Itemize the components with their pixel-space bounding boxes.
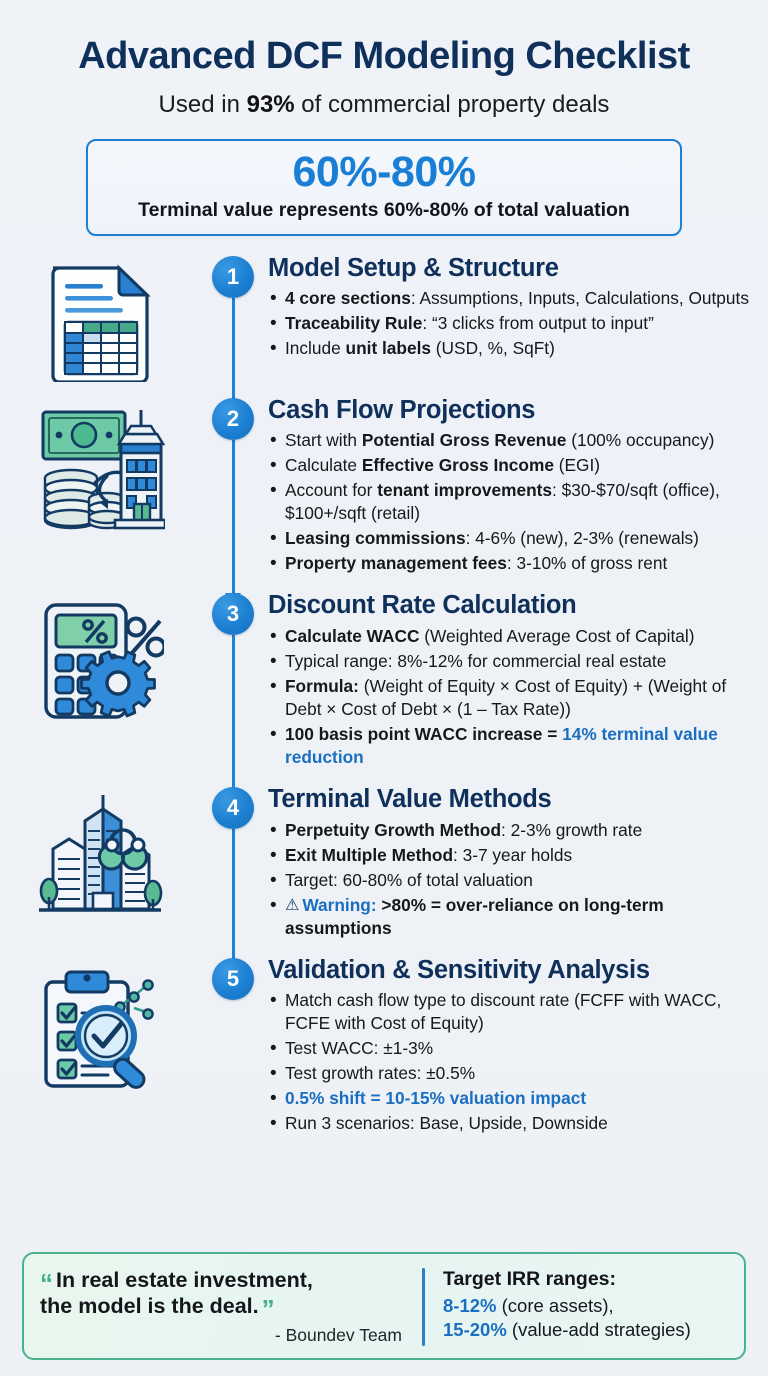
step-2-body: Cash Flow Projections Start with Potenti… bbox=[200, 396, 768, 578]
bullet-text: : 2-3% growth rate bbox=[501, 820, 642, 840]
list-item: Test growth rates: ±0.5% bbox=[268, 1062, 754, 1085]
irr-title: Target IRR ranges: bbox=[443, 1268, 728, 1291]
list-item: 0.5% shift = 10-15% valuation impact bbox=[268, 1087, 754, 1110]
list-item: Perpetuity Growth Method: 2-3% growth ra… bbox=[268, 819, 754, 842]
footer-quote-box: “In real estate investment,the model is … bbox=[22, 1252, 746, 1360]
list-item: Include unit labels (USD, %, SqFt) bbox=[268, 337, 754, 360]
bullet-bold: Calculate WACC bbox=[285, 626, 419, 646]
hero-stat-label: Terminal value represents 60%-80% of tot… bbox=[102, 199, 666, 222]
bullet-bold: Exit Multiple Method bbox=[285, 845, 453, 865]
irr-label-2: (value-add strategies) bbox=[507, 1319, 691, 1340]
step-5-number-badge: 5 bbox=[212, 958, 254, 1000]
step-2: 2 Cash Flow Projections Start with Poten… bbox=[0, 396, 768, 578]
list-item: Target: 60-80% of total valuation bbox=[268, 869, 754, 892]
step-4-icon-wrap bbox=[0, 785, 200, 921]
bullet-bold: Effective Gross Income bbox=[362, 455, 554, 475]
bullet-bold: 4 core sections bbox=[285, 288, 411, 308]
hero-stat-box: 60%-80% Terminal value represents 60%-80… bbox=[86, 139, 682, 236]
bullet-text: (Weighted Average Cost of Capital) bbox=[419, 626, 694, 646]
list-item: 100 basis point WACC increase = 14% term… bbox=[268, 723, 754, 769]
list-item: Typical range: 8%-12% for commercial rea… bbox=[268, 650, 754, 673]
irr-value-1: 8-12% bbox=[443, 1295, 496, 1316]
step-3-body: Discount Rate Calculation Calculate WACC… bbox=[200, 591, 768, 771]
step-1: 1 Model Setup & Structure 4 core section… bbox=[0, 254, 768, 382]
step-4: 4 Terminal Value Methods Perpetuity Grow… bbox=[0, 785, 768, 942]
bullet-text: Typical range: 8%-12% for commercial rea… bbox=[285, 651, 666, 671]
list-item: 4 core sections: Assumptions, Inputs, Ca… bbox=[268, 287, 754, 310]
bullet-text: : Assumptions, Inputs, Calculations, Out… bbox=[411, 288, 749, 308]
warning-list-item: ⚠Warning: >80% = over-reliance on long-t… bbox=[268, 894, 754, 940]
infographic-page: Advanced DCF Modeling Checklist Used in … bbox=[0, 0, 768, 1376]
step-1-icon-wrap bbox=[0, 254, 200, 382]
bullet-text: Test growth rates: ±0.5% bbox=[285, 1063, 475, 1083]
bullet-pre: Start with bbox=[285, 430, 362, 450]
quote-line-1: In real estate investment, bbox=[56, 1268, 313, 1292]
bullet-pre: Include bbox=[285, 338, 346, 358]
bullet-pre: Calculate bbox=[285, 455, 362, 475]
subtitle-stat: 93% bbox=[247, 91, 295, 118]
skyscraper-infinity-icon bbox=[35, 793, 165, 921]
bullet-bold: Perpetuity Growth Method bbox=[285, 820, 501, 840]
bullet-text: : 3-7 year holds bbox=[453, 845, 572, 865]
list-item: Leasing commissions: 4-6% (new), 2-3% (r… bbox=[268, 527, 754, 550]
quote-section: “In real estate investment,the model is … bbox=[40, 1268, 422, 1346]
step-5-body: Validation & Sensitivity Analysis Match … bbox=[200, 956, 768, 1138]
step-4-connector-arrow bbox=[232, 829, 235, 971]
bullet-bold: Potential Gross Revenue bbox=[362, 430, 567, 450]
bullet-bold: 100 basis point WACC increase = bbox=[285, 724, 562, 744]
bullet-text: (100% occupancy) bbox=[566, 430, 714, 450]
list-item: Account for tenant improvements: $30-$70… bbox=[268, 479, 754, 525]
list-item: Traceability Rule: “3 clicks from output… bbox=[268, 312, 754, 335]
step-3-icon-wrap bbox=[0, 591, 200, 723]
clipboard-magnifier-icon bbox=[34, 964, 166, 1094]
hero-stat-value: 60%-80% bbox=[102, 151, 666, 195]
step-2-icon-wrap bbox=[0, 396, 200, 530]
list-item: Calculate Effective Gross Income (EGI) bbox=[268, 454, 754, 477]
step-5-icon-wrap bbox=[0, 956, 200, 1094]
bullet-bold: unit labels bbox=[346, 338, 431, 358]
bullet-text: Match cash flow type to discount rate (F… bbox=[285, 990, 721, 1033]
step-4-bullets: Perpetuity Growth Method: 2-3% growth ra… bbox=[268, 819, 754, 940]
step-3-title: Discount Rate Calculation bbox=[268, 591, 754, 620]
step-2-title: Cash Flow Projections bbox=[268, 396, 754, 425]
spreadsheet-document-icon bbox=[41, 262, 159, 382]
header: Advanced DCF Modeling Checklist Used in … bbox=[0, 0, 768, 119]
step-4-number-badge: 4 bbox=[212, 787, 254, 829]
money-building-icon bbox=[35, 404, 165, 530]
step-2-connector-arrow bbox=[232, 440, 235, 604]
step-1-title: Model Setup & Structure bbox=[268, 254, 754, 283]
list-item: Match cash flow type to discount rate (F… bbox=[268, 989, 754, 1035]
irr-value-2: 15-20% bbox=[443, 1319, 507, 1340]
quote-close-icon: ” bbox=[262, 1294, 275, 1324]
steps-list: 1 Model Setup & Structure 4 core section… bbox=[0, 254, 768, 1137]
step-1-bullets: 4 core sections: Assumptions, Inputs, Ca… bbox=[268, 287, 754, 360]
bullet-text: : “3 clicks from output to input” bbox=[422, 313, 653, 333]
step-4-title: Terminal Value Methods bbox=[268, 785, 754, 814]
irr-line-1: 8-12% (core assets), bbox=[443, 1294, 728, 1318]
step-5-title: Validation & Sensitivity Analysis bbox=[268, 956, 754, 985]
page-title: Advanced DCF Modeling Checklist bbox=[24, 36, 744, 77]
subtitle-suffix: of commercial property deals bbox=[295, 91, 610, 118]
bullet-text: : 4-6% (new), 2-3% (renewals) bbox=[466, 528, 699, 548]
quote-open-icon: “ bbox=[40, 1268, 53, 1298]
bullet-text: Run 3 scenarios: Base, Upside, Downside bbox=[285, 1113, 608, 1133]
list-item: Test WACC: ±1-3% bbox=[268, 1037, 754, 1060]
bullet-bold: Traceability Rule bbox=[285, 313, 422, 333]
step-1-body: Model Setup & Structure 4 core sections:… bbox=[200, 254, 768, 363]
irr-label-1: (core assets), bbox=[496, 1295, 613, 1316]
step-3-bullets: Calculate WACC (Weighted Average Cost of… bbox=[268, 625, 754, 769]
bullet-text: (USD, %, SqFt) bbox=[431, 338, 555, 358]
page-subtitle: Used in 93% of commercial property deals bbox=[24, 91, 744, 119]
list-item: Start with Potential Gross Revenue (100%… bbox=[268, 429, 754, 452]
irr-section: Target IRR ranges: 8-12% (core assets), … bbox=[425, 1268, 728, 1346]
step-3: 3 Discount Rate Calculation Calculate WA… bbox=[0, 591, 768, 771]
bullet-bold: Leasing commissions bbox=[285, 528, 466, 548]
irr-line-2: 15-20% (value-add strategies) bbox=[443, 1318, 728, 1342]
step-5-bullets: Match cash flow type to discount rate (F… bbox=[268, 989, 754, 1135]
quote-line-2: the model is the deal. bbox=[40, 1294, 259, 1318]
subtitle-prefix: Used in bbox=[159, 91, 247, 118]
bullet-text: (EGI) bbox=[554, 455, 600, 475]
bullet-bold: Formula: bbox=[285, 676, 359, 696]
step-2-number-badge: 2 bbox=[212, 398, 254, 440]
bullet-bold: tenant improvements bbox=[377, 480, 552, 500]
list-item: Property management fees: 3-10% of gross… bbox=[268, 552, 754, 575]
list-item: Exit Multiple Method: 3-7 year holds bbox=[268, 844, 754, 867]
step-1-number-badge: 1 bbox=[212, 256, 254, 298]
list-item: Run 3 scenarios: Base, Upside, Downside bbox=[268, 1112, 754, 1135]
quote-text: “In real estate investment,the model is … bbox=[40, 1268, 408, 1319]
bullet-text: : 3-10% of gross rent bbox=[507, 553, 667, 573]
warning-triangle-icon: ⚠ bbox=[285, 895, 299, 916]
step-4-body: Terminal Value Methods Perpetuity Growth… bbox=[200, 785, 768, 942]
calculator-percent-gear-icon bbox=[36, 599, 164, 723]
step-5: 5 Validation & Sensitivity Analysis Matc… bbox=[0, 956, 768, 1138]
warning-label: Warning: bbox=[302, 895, 376, 915]
step-2-bullets: Start with Potential Gross Revenue (100%… bbox=[268, 429, 754, 575]
step-3-connector-arrow bbox=[232, 635, 235, 801]
bullet-pre: Account for bbox=[285, 480, 377, 500]
list-item: Calculate WACC (Weighted Average Cost of… bbox=[268, 625, 754, 648]
bullet-bold: Property management fees bbox=[285, 553, 507, 573]
bullet-accent: 0.5% shift = 10-15% valuation impact bbox=[285, 1088, 586, 1108]
bullet-text: Target: 60-80% of total valuation bbox=[285, 870, 533, 890]
list-item: Formula: (Weight of Equity × Cost of Equ… bbox=[268, 675, 754, 721]
bullet-text: Test WACC: ±1-3% bbox=[285, 1038, 433, 1058]
quote-attribution: - Boundev Team bbox=[40, 1325, 408, 1346]
